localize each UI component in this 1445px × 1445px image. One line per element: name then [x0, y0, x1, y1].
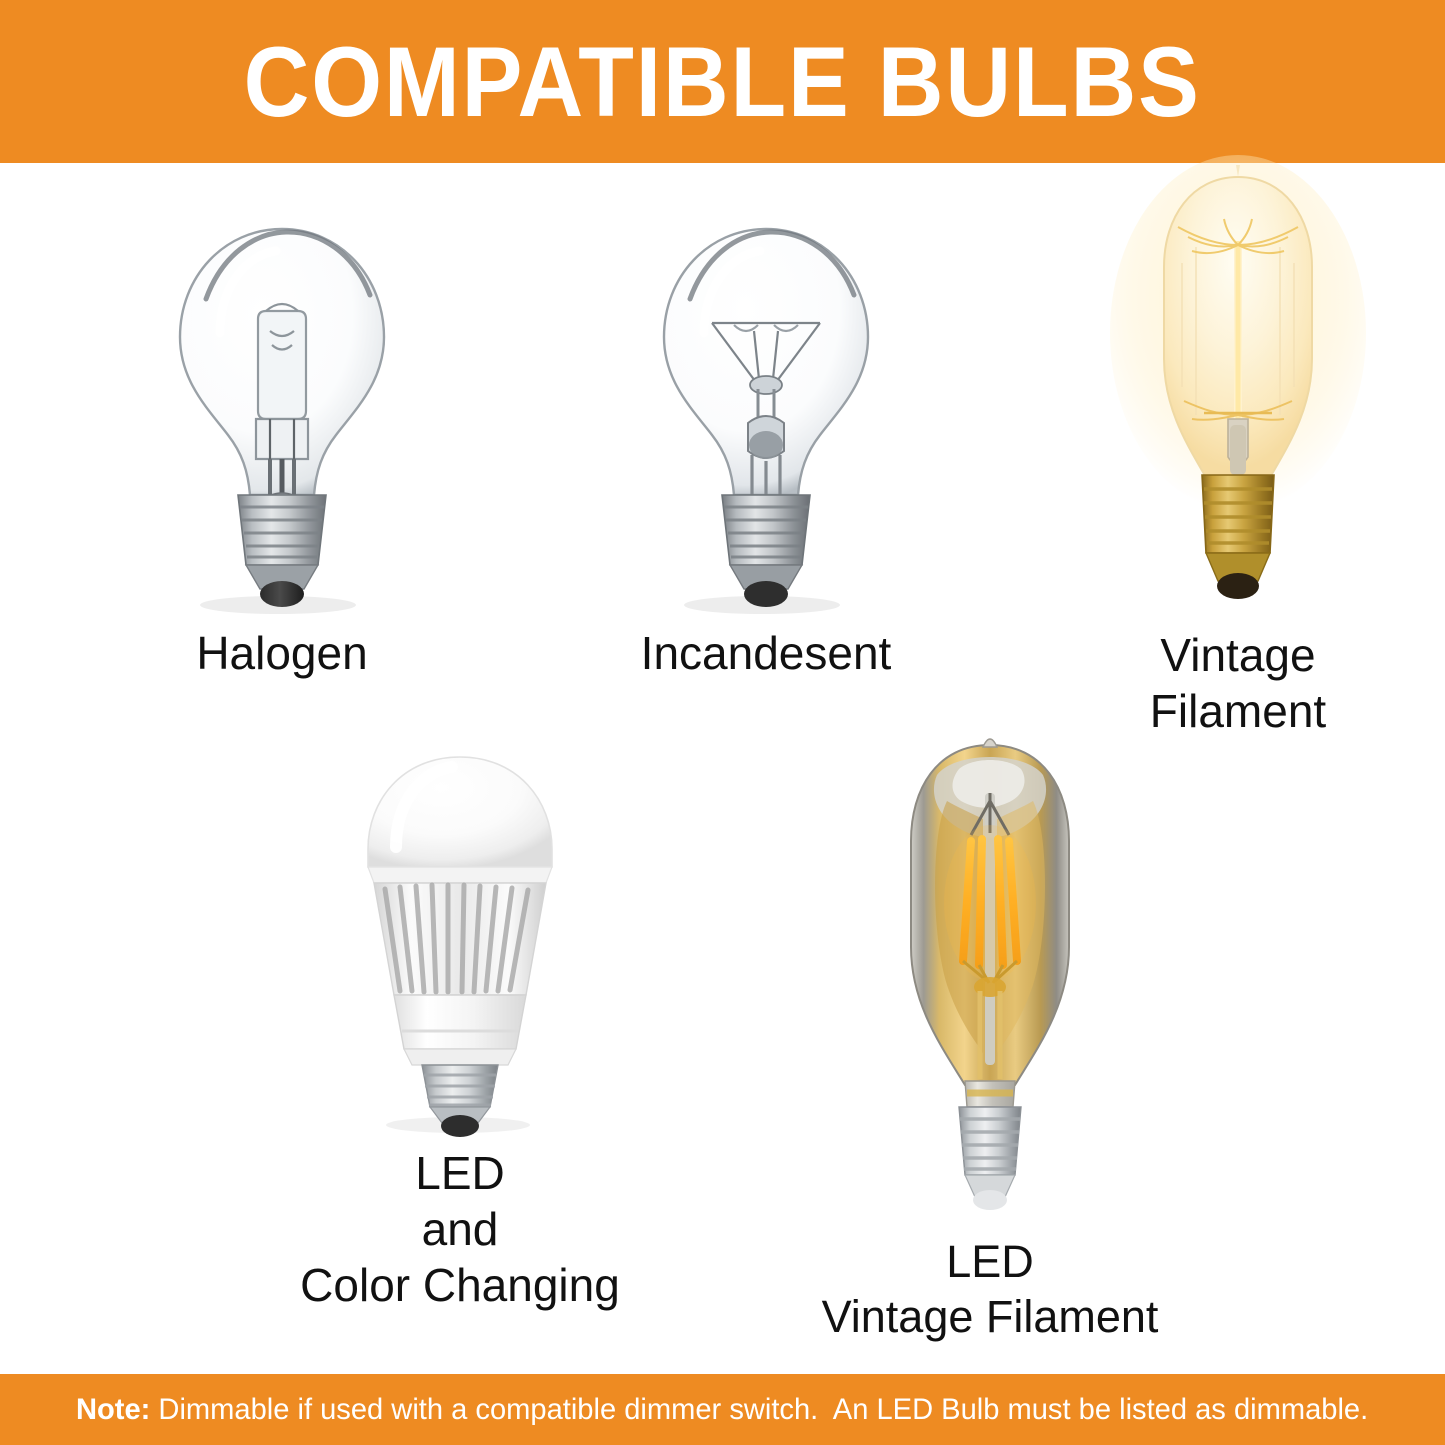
halogen-bulb-icon — [162, 213, 402, 613]
led-bulb-icon — [340, 743, 580, 1133]
bulb-grid: Halogen — [0, 163, 1445, 1374]
note-prefix: Note: — [76, 1393, 150, 1426]
led-vintage-filament-bulb-icon — [855, 723, 1125, 1223]
note-text: Note: Dimmable if used with a compatible… — [76, 1393, 1368, 1427]
vintage-filament-bulb-icon — [1108, 163, 1368, 615]
bulb-label-incandescent: Incandesent — [641, 625, 892, 681]
bulb-card-led[interactable]: LED and Color Changing — [250, 743, 670, 1313]
note-banner: Note: Dimmable if used with a compatible… — [0, 1374, 1445, 1445]
header-banner: COMPATIBLE BULBS — [0, 0, 1445, 163]
bulb-label-halogen: Halogen — [196, 625, 367, 681]
bulb-label-led-vintage-filament: LED Vintage Filament — [822, 1235, 1159, 1345]
bulb-card-led-vintage-filament[interactable]: LED Vintage Filament — [760, 723, 1220, 1345]
bulb-card-incandescent[interactable]: Incandesent — [556, 213, 976, 681]
bulb-card-halogen[interactable]: Halogen — [72, 213, 492, 681]
page-title: COMPATIBLE BULBS — [244, 32, 1201, 131]
incandescent-bulb-icon — [646, 213, 886, 613]
bulb-label-led: LED and Color Changing — [300, 1145, 620, 1313]
note-body: Dimmable if used with a compatible dimme… — [151, 1393, 1369, 1426]
bulb-card-vintage-filament[interactable]: Vintage Filament — [1038, 163, 1438, 739]
